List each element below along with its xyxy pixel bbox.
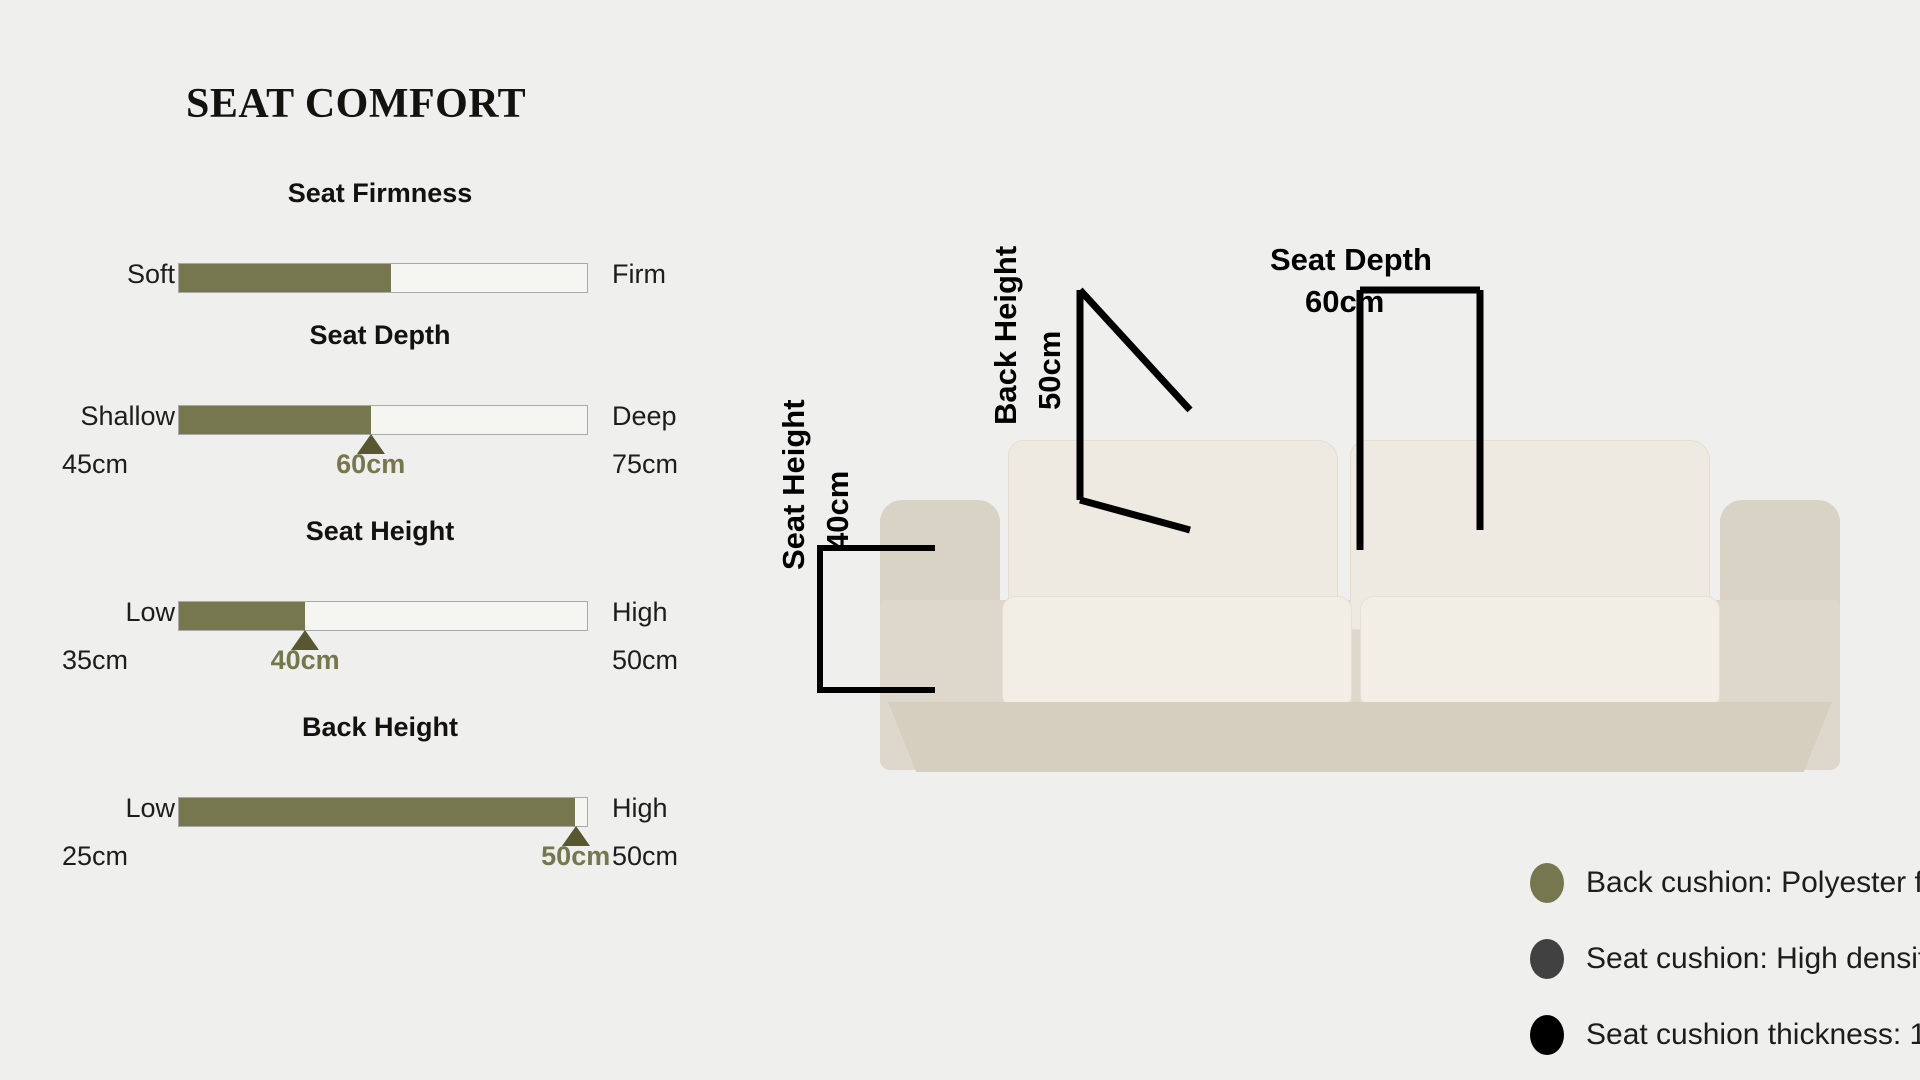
scale-min-value: 35cm (62, 647, 128, 674)
slider-title: Back Height (0, 712, 760, 743)
legend-label: Seat cushion: High density & resiliency … (1586, 942, 1920, 976)
slider-min-label: Low (125, 795, 175, 822)
seat-depth-dimension-label: Seat Depth (1270, 244, 1432, 275)
seat-height-dimension-label: Seat Height (778, 399, 809, 570)
seat-depth-dimension-value: 60cm (1305, 286, 1384, 317)
slider-group-seat-depth: Seat DepthShallowDeep45cm60cm75cm (0, 320, 760, 493)
scale-max-value: 75cm (612, 451, 678, 478)
slider-group-seat-firmness: Seat FirmnessSoftFirm (0, 178, 760, 297)
slider-title: Seat Firmness (0, 178, 760, 209)
scale-current-value: 50cm (541, 843, 610, 870)
slider-track[interactable] (178, 405, 588, 435)
slider-track[interactable] (178, 797, 588, 827)
slider-row: LowHigh (0, 589, 760, 635)
scale-min-value: 25cm (62, 843, 128, 870)
scale-max-value: 50cm (612, 843, 678, 870)
seat-height-dimension-value: 40cm (822, 471, 853, 550)
slider-min-label: Soft (127, 261, 175, 288)
slider-scale-row: 35cm40cm50cm (0, 647, 760, 689)
slider-scale-row: 25cm50cm50cm (0, 843, 760, 885)
legend-color-dot-icon (1530, 1015, 1564, 1055)
back-height-dimension-label: Back Height (990, 246, 1021, 425)
slider-row: SoftFirm (0, 251, 760, 297)
sofa-diagram-panel: Seat Height 40cm Back Height 50cm Seat D… (760, 0, 1920, 1080)
seat-comfort-infographic: SEAT COMFORT Seat FirmnessSoftFirmSeat D… (0, 0, 1920, 1080)
dimension-lines (760, 240, 1920, 820)
slider-group-seat-height: Seat HeightLowHigh35cm40cm50cm (0, 516, 760, 689)
legend-item: Back cushion: Polyester fibre and white … (1530, 845, 1920, 921)
scale-current-value: 40cm (271, 647, 340, 674)
slider-track[interactable] (178, 601, 588, 631)
slider-fill (179, 602, 305, 630)
page-title: SEAT COMFORT (186, 80, 526, 128)
scale-current-value: 60cm (336, 451, 405, 478)
slider-title: Seat Height (0, 516, 760, 547)
sofa-dimension-figure: Seat Height 40cm Back Height 50cm Seat D… (760, 240, 1920, 820)
slider-fill (179, 264, 391, 292)
slider-max-label: Deep (612, 403, 677, 430)
slider-max-label: High (612, 599, 668, 626)
slider-scale-row: 45cm60cm75cm (0, 451, 760, 493)
cushion-legend: Back cushion: Polyester fibre and white … (1530, 845, 1920, 1073)
slider-max-label: Firm (612, 261, 666, 288)
slider-row: ShallowDeep (0, 393, 760, 439)
slider-min-label: Low (125, 599, 175, 626)
slider-title: Seat Depth (0, 320, 760, 351)
back-height-dimension-value: 50cm (1034, 331, 1065, 410)
scale-min-value: 45cm (62, 451, 128, 478)
slider-fill (179, 798, 575, 826)
legend-item: Seat cushion: High density & resiliency … (1530, 921, 1920, 997)
slider-max-label: High (612, 795, 668, 822)
slider-row: LowHigh (0, 785, 760, 831)
seat-comfort-panel: SEAT COMFORT Seat FirmnessSoftFirmSeat D… (0, 0, 760, 1080)
slider-track[interactable] (178, 263, 588, 293)
slider-min-label: Shallow (80, 403, 175, 430)
legend-label: Back cushion: Polyester fibre and white … (1586, 866, 1920, 900)
slider-group-back-height: Back HeightLowHigh25cm50cm50cm (0, 712, 760, 885)
legend-color-dot-icon (1530, 863, 1564, 903)
legend-item: Seat cushion thickness: 17cm foam, 3cm l… (1530, 997, 1920, 1073)
slider-fill (179, 406, 371, 434)
legend-color-dot-icon (1530, 939, 1564, 979)
scale-max-value: 50cm (612, 647, 678, 674)
legend-label: Seat cushion thickness: 17cm foam, 3cm l… (1586, 1018, 1920, 1052)
